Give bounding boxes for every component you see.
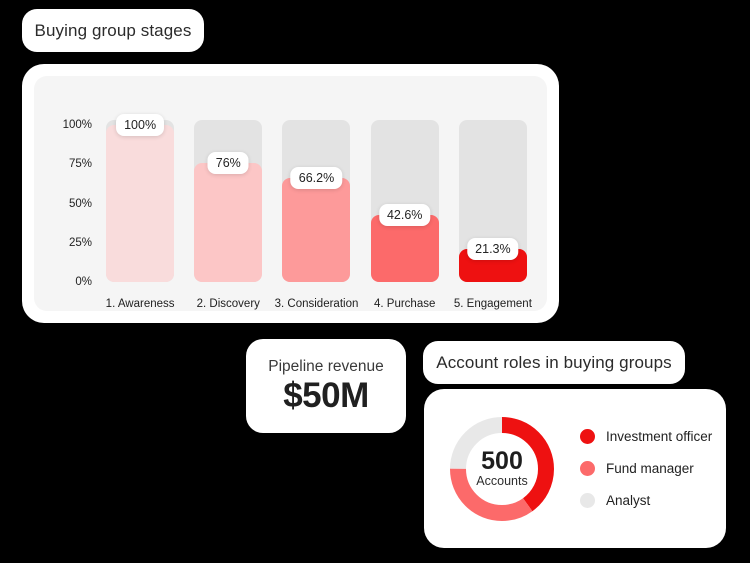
legend-label: Investment officer: [606, 429, 712, 444]
bar-fill[interactable]: [282, 178, 350, 282]
legend-label: Analyst: [606, 493, 650, 508]
bar-value-label: 42.6%: [379, 204, 430, 226]
bar-column[interactable]: 66.2%3. Consideration: [272, 76, 360, 311]
bar-value-label: 100%: [116, 114, 164, 136]
pipeline-revenue-card: Pipeline revenue $50M: [246, 339, 406, 433]
y-axis-tick: 25%: [69, 237, 92, 249]
y-axis-tick: 50%: [69, 198, 92, 210]
account-roles-title: Account roles in buying groups: [436, 353, 671, 373]
legend-color-dot-icon: [580, 461, 595, 476]
bar-chart-title: Buying group stages: [35, 21, 192, 41]
legend-color-dot-icon: [580, 429, 595, 444]
bar-value-label: 21.3%: [467, 238, 518, 260]
bar-category-label: 4. Purchase: [374, 298, 435, 310]
pipeline-revenue-value: $50M: [283, 378, 369, 415]
bar-fill[interactable]: [106, 125, 174, 282]
bar-column[interactable]: 76%2. Discovery: [184, 76, 272, 311]
bar-category-label: 5. Engagement: [454, 298, 532, 310]
bar-column[interactable]: 100%1. Awareness: [96, 76, 184, 311]
account-roles-card: 500 Accounts Investment officerFund mana…: [424, 389, 726, 548]
legend-item[interactable]: Analyst: [580, 493, 712, 508]
bar-value-label: 66.2%: [291, 167, 342, 189]
bar-category-label: 1. Awareness: [106, 298, 175, 310]
pipeline-revenue-label: Pipeline revenue: [268, 358, 383, 376]
donut-total-value: 500: [481, 448, 523, 474]
bar-category-label: 3. Consideration: [275, 298, 359, 310]
donut-legend: Investment officerFund managerAnalyst: [580, 429, 712, 508]
bar-chart-title-pill: Buying group stages: [22, 9, 204, 52]
y-axis-tick: 75%: [69, 158, 92, 170]
buying-group-stages-card: 100%75%50%25%0% 100%1. Awareness76%2. Di…: [22, 64, 559, 323]
y-axis: 100%75%50%25%0%: [46, 76, 92, 311]
y-axis-tick: 100%: [63, 119, 92, 131]
account-roles-title-pill: Account roles in buying groups: [423, 341, 685, 384]
bar-series: 100%1. Awareness76%2. Discovery66.2%3. C…: [96, 76, 537, 311]
donut-total-unit: Accounts: [476, 474, 527, 489]
legend-item[interactable]: Investment officer: [580, 429, 712, 444]
donut-chart: 500 Accounts: [446, 413, 558, 525]
bar-fill[interactable]: [194, 163, 262, 282]
legend-item[interactable]: Fund manager: [580, 461, 712, 476]
bar-column[interactable]: 42.6%4. Purchase: [361, 76, 449, 311]
bar-value-label: 76%: [208, 152, 249, 174]
y-axis-tick: 0%: [75, 276, 92, 288]
legend-color-dot-icon: [580, 493, 595, 508]
bar-column[interactable]: 21.3%5. Engagement: [449, 76, 537, 311]
legend-label: Fund manager: [606, 461, 694, 476]
bar-category-label: 2. Discovery: [197, 298, 260, 310]
donut-center-label: 500 Accounts: [446, 413, 558, 525]
bar-chart-plot-area: 100%75%50%25%0% 100%1. Awareness76%2. Di…: [34, 76, 547, 311]
